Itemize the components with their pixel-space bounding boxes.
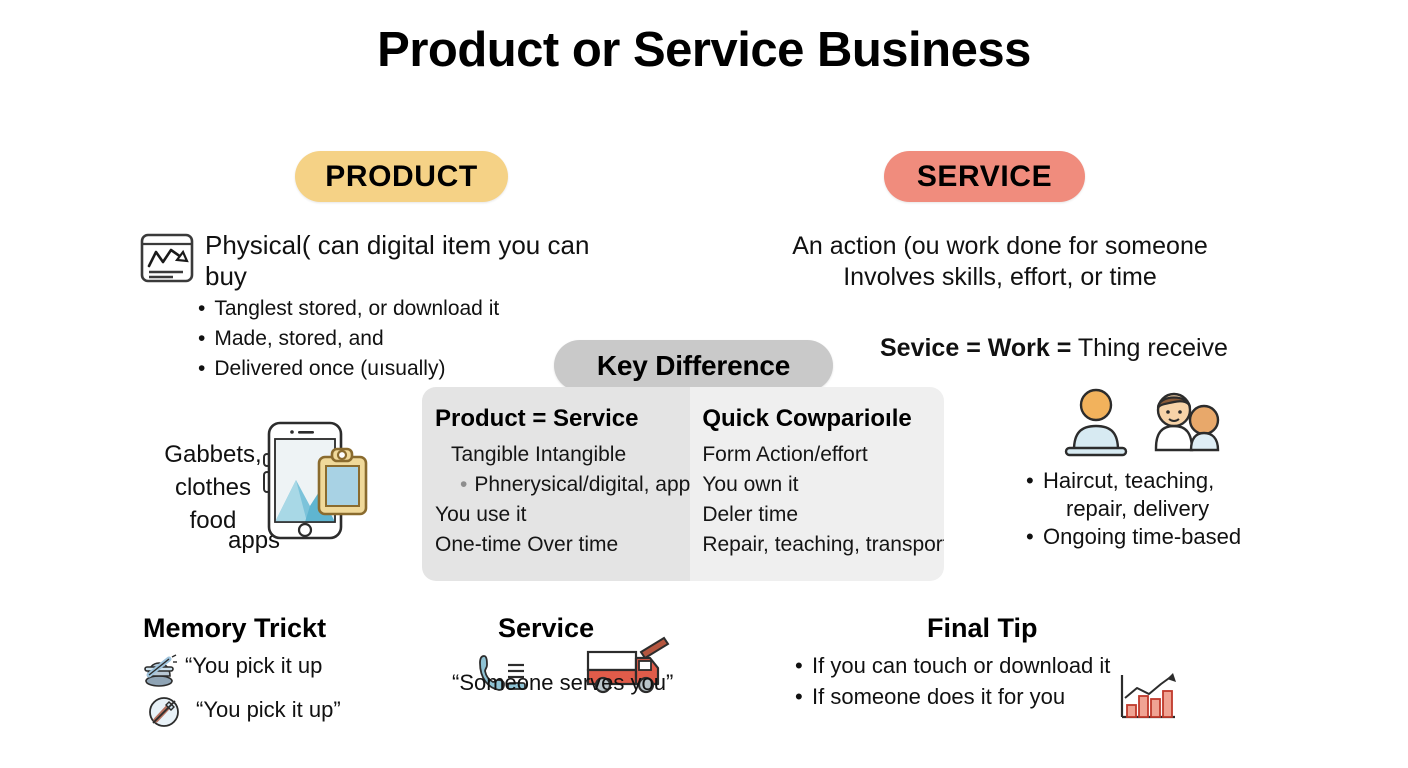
equation-equals-1: = xyxy=(966,334,981,362)
key-difference-left-panel: Product = Service Tangible Intangible •P… xyxy=(422,387,690,581)
bullet-dot: • xyxy=(795,650,812,681)
list-item: • Haircut, teaching, xyxy=(1026,467,1296,495)
kd-right-line-4: Repair, teaching, transport xyxy=(702,530,944,560)
service-headline-line1: An action (ou work done for someone xyxy=(740,231,1260,262)
bullet-dot: • xyxy=(1026,467,1043,495)
memory-trick-title: Memory Trickt xyxy=(143,613,326,644)
list-item: • Ongoing time-based xyxy=(1026,523,1296,551)
service-headline: An action (ou work done for someone Invo… xyxy=(740,231,1260,293)
bullet-dot: • xyxy=(795,681,812,712)
kd-right-line-2: You own it xyxy=(702,470,944,500)
memory-trick-line-2: “You pick it up” xyxy=(196,697,341,723)
kd-left-line-1: Tangible Intangible xyxy=(435,440,690,470)
service-equation: Sevice = Work = Thing receive xyxy=(880,334,1228,363)
equation-term-2: Work xyxy=(988,334,1050,362)
hairdresser-icon xyxy=(1156,394,1218,450)
key-difference-badge[interactable]: Key Difference xyxy=(554,340,833,391)
bullet-dot: • xyxy=(460,473,467,496)
key-difference-panels: Product = Service Tangible Intangible •P… xyxy=(422,387,944,581)
service-bottom-title: Service xyxy=(498,613,594,644)
person-icon xyxy=(1066,390,1126,455)
product-pill-badge[interactable]: PRODUCT xyxy=(295,151,508,202)
kd-left-title: Product = Service xyxy=(435,405,690,433)
final-tip-title: Final Tip xyxy=(927,613,1038,644)
kd-right-title: Quick Cowparioıle xyxy=(702,405,944,433)
people-icons-group xyxy=(1058,388,1234,463)
product-bullet-list: Tanglest stored, or download it Made, st… xyxy=(176,294,618,384)
final-tip-bullet-2: If someone does it for you xyxy=(812,681,1065,712)
service-pill-label: SERVICE xyxy=(917,160,1052,194)
kd-left-line-4: One-time Over time xyxy=(435,530,690,560)
product-headline: Physical( can digital item you can buy xyxy=(205,230,605,292)
service-pill-badge[interactable]: SERVICE xyxy=(884,151,1085,202)
bar-chart-icon xyxy=(1117,672,1179,727)
bullet-dot: • xyxy=(1026,523,1043,551)
kd-left-line-2: •Phnerysical/digital, app xyxy=(435,470,690,500)
service-bullet-3: Ongoing time-based xyxy=(1043,523,1241,551)
equation-term-3: Thing receive xyxy=(1078,334,1228,362)
service-bullet-1: Haircut, teaching, xyxy=(1043,467,1214,495)
no-pickup-icon xyxy=(148,696,180,733)
kd-left-line-2-text: Phnerysical/digital, app xyxy=(474,473,690,496)
product-pill-label: PRODUCT xyxy=(325,160,478,194)
hand-pickup-icon xyxy=(143,654,179,693)
list-item: Made, stored, and xyxy=(198,324,618,354)
chart-document-icon xyxy=(139,230,195,291)
kd-left-line-3: You use it xyxy=(435,500,690,530)
service-quote: “Someone serves you” xyxy=(452,670,673,696)
final-tip-bullet-1: If you can touch or download it xyxy=(812,650,1110,681)
service-bullet-list: • Haircut, teaching, repair, delivery • … xyxy=(1026,467,1296,551)
equation-term-1: Sevice xyxy=(880,334,959,362)
page-title: Product or Service Business xyxy=(0,22,1408,78)
kd-right-line-3: Deler time xyxy=(702,500,944,530)
kd-right-line-1: Form Action/effort xyxy=(702,440,944,470)
service-bullet-2: repair, delivery xyxy=(1026,495,1296,523)
key-difference-right-panel: Quick Cowparioıle Form Action/effort You… xyxy=(690,387,944,581)
smartphone-icon xyxy=(262,418,372,548)
key-difference-label: Key Difference xyxy=(597,350,790,382)
memory-trick-line-1: “You pick it up xyxy=(185,653,322,679)
list-item: Tanglest stored, or download it xyxy=(198,294,618,324)
equation-equals-2: = xyxy=(1057,334,1072,362)
service-headline-line2: Involves skills, effort, or time xyxy=(740,262,1260,293)
